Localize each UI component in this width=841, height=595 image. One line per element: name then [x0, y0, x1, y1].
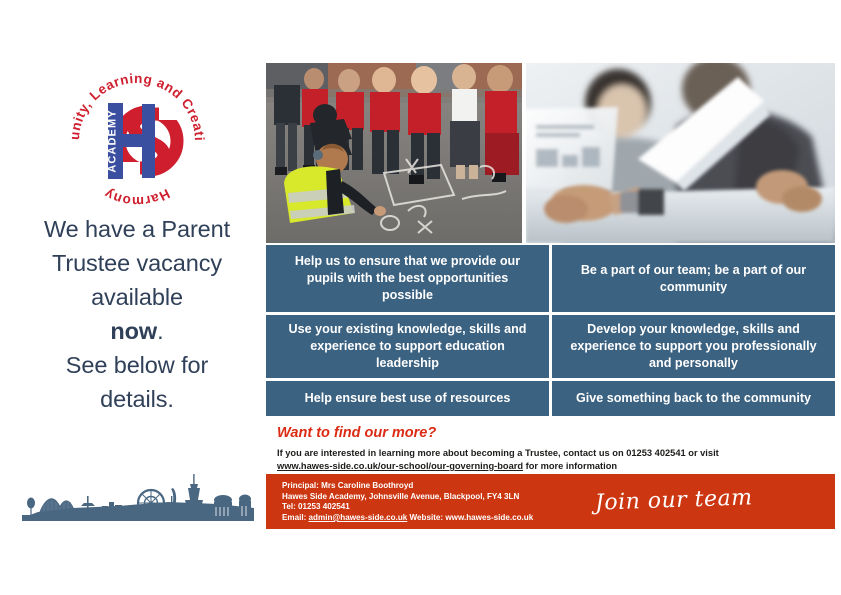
governing-board-link[interactable]: www.hawes-side.co.uk/our-school/our-gove… — [277, 461, 523, 471]
headline-now-period: . — [157, 318, 163, 344]
headline-line-3: available — [12, 280, 262, 314]
headline-line-6: details. — [12, 382, 262, 416]
headline-line-4: now. — [12, 314, 262, 348]
logo-svg: Community, Learning and Creativity in Ha… — [62, 66, 212, 216]
benefit-cell: Help ensure best use of resources — [266, 381, 549, 416]
contact-address: Hawes Side Academy, Johnsville Avenue, B… — [282, 492, 612, 503]
svg-text:Harmony: Harmony — [102, 186, 173, 209]
contact-email-website: Email: admin@hawes-side.co.uk Website: w… — [282, 513, 612, 524]
find-out-more-heading: Want to find our more? — [277, 424, 835, 442]
find-out-more-suffix: for more information — [523, 461, 617, 471]
headline-now-emphasis: now — [110, 318, 157, 344]
join-our-team-text: Join our team — [595, 485, 753, 515]
benefits-grid: Help us to ensure that we provide our pu… — [266, 245, 835, 416]
page-headline: We have a Parent Trustee vacancy availab… — [12, 212, 262, 416]
left-column: Community, Learning and Creativity in Ha… — [0, 0, 262, 595]
right-column: Help us to ensure that we provide our pu… — [266, 0, 835, 595]
hawes-side-academy-logo: Community, Learning and Creativity in Ha… — [62, 66, 212, 216]
meeting-photo-svg — [526, 63, 835, 243]
playground-chalk-photo — [266, 63, 522, 243]
benefit-cell: Be a part of our team; be a part of our … — [552, 245, 835, 312]
meeting-documents-photo — [526, 63, 835, 243]
find-out-more-block: Want to find our more? If you are intere… — [277, 424, 835, 473]
contact-details: Principal: Mrs Caroline Boothroyd Hawes … — [282, 481, 612, 523]
contact-email-link[interactable]: admin@hawes-side.co.uk — [309, 513, 408, 522]
find-out-more-line-1: If you are interested in learning more a… — [277, 447, 835, 460]
contact-email-label: Email: — [282, 513, 309, 522]
contact-website: www.hawes-side.co.uk — [445, 513, 533, 522]
benefit-cell: Give something back to the community — [552, 381, 835, 416]
benefit-cell: Develop your knowledge, skills and exper… — [552, 315, 835, 378]
contact-website-label: Website: — [407, 513, 445, 522]
contact-telephone: Tel: 01253 402541 — [282, 502, 612, 513]
headline-line-5: See below for — [12, 348, 262, 382]
headline-line-2: Trustee vacancy — [12, 246, 262, 280]
benefit-cell: Help us to ensure that we provide our pu… — [266, 245, 549, 312]
find-out-more-line-2: www.hawes-side.co.uk/our-school/our-gove… — [277, 460, 835, 473]
contact-bar: Principal: Mrs Caroline Boothroyd Hawes … — [266, 474, 835, 529]
blackpool-skyline-graphic — [18, 452, 258, 524]
benefit-cell: Use your existing knowledge, skills and … — [266, 315, 549, 378]
skyline-svg — [18, 452, 258, 524]
logo-academy-text: ACADEMY — [107, 109, 119, 172]
contact-principal: Principal: Mrs Caroline Boothroyd — [282, 481, 612, 492]
photo-row — [266, 63, 835, 243]
playground-photo-svg — [266, 63, 522, 243]
headline-line-1: We have a Parent — [12, 212, 262, 246]
